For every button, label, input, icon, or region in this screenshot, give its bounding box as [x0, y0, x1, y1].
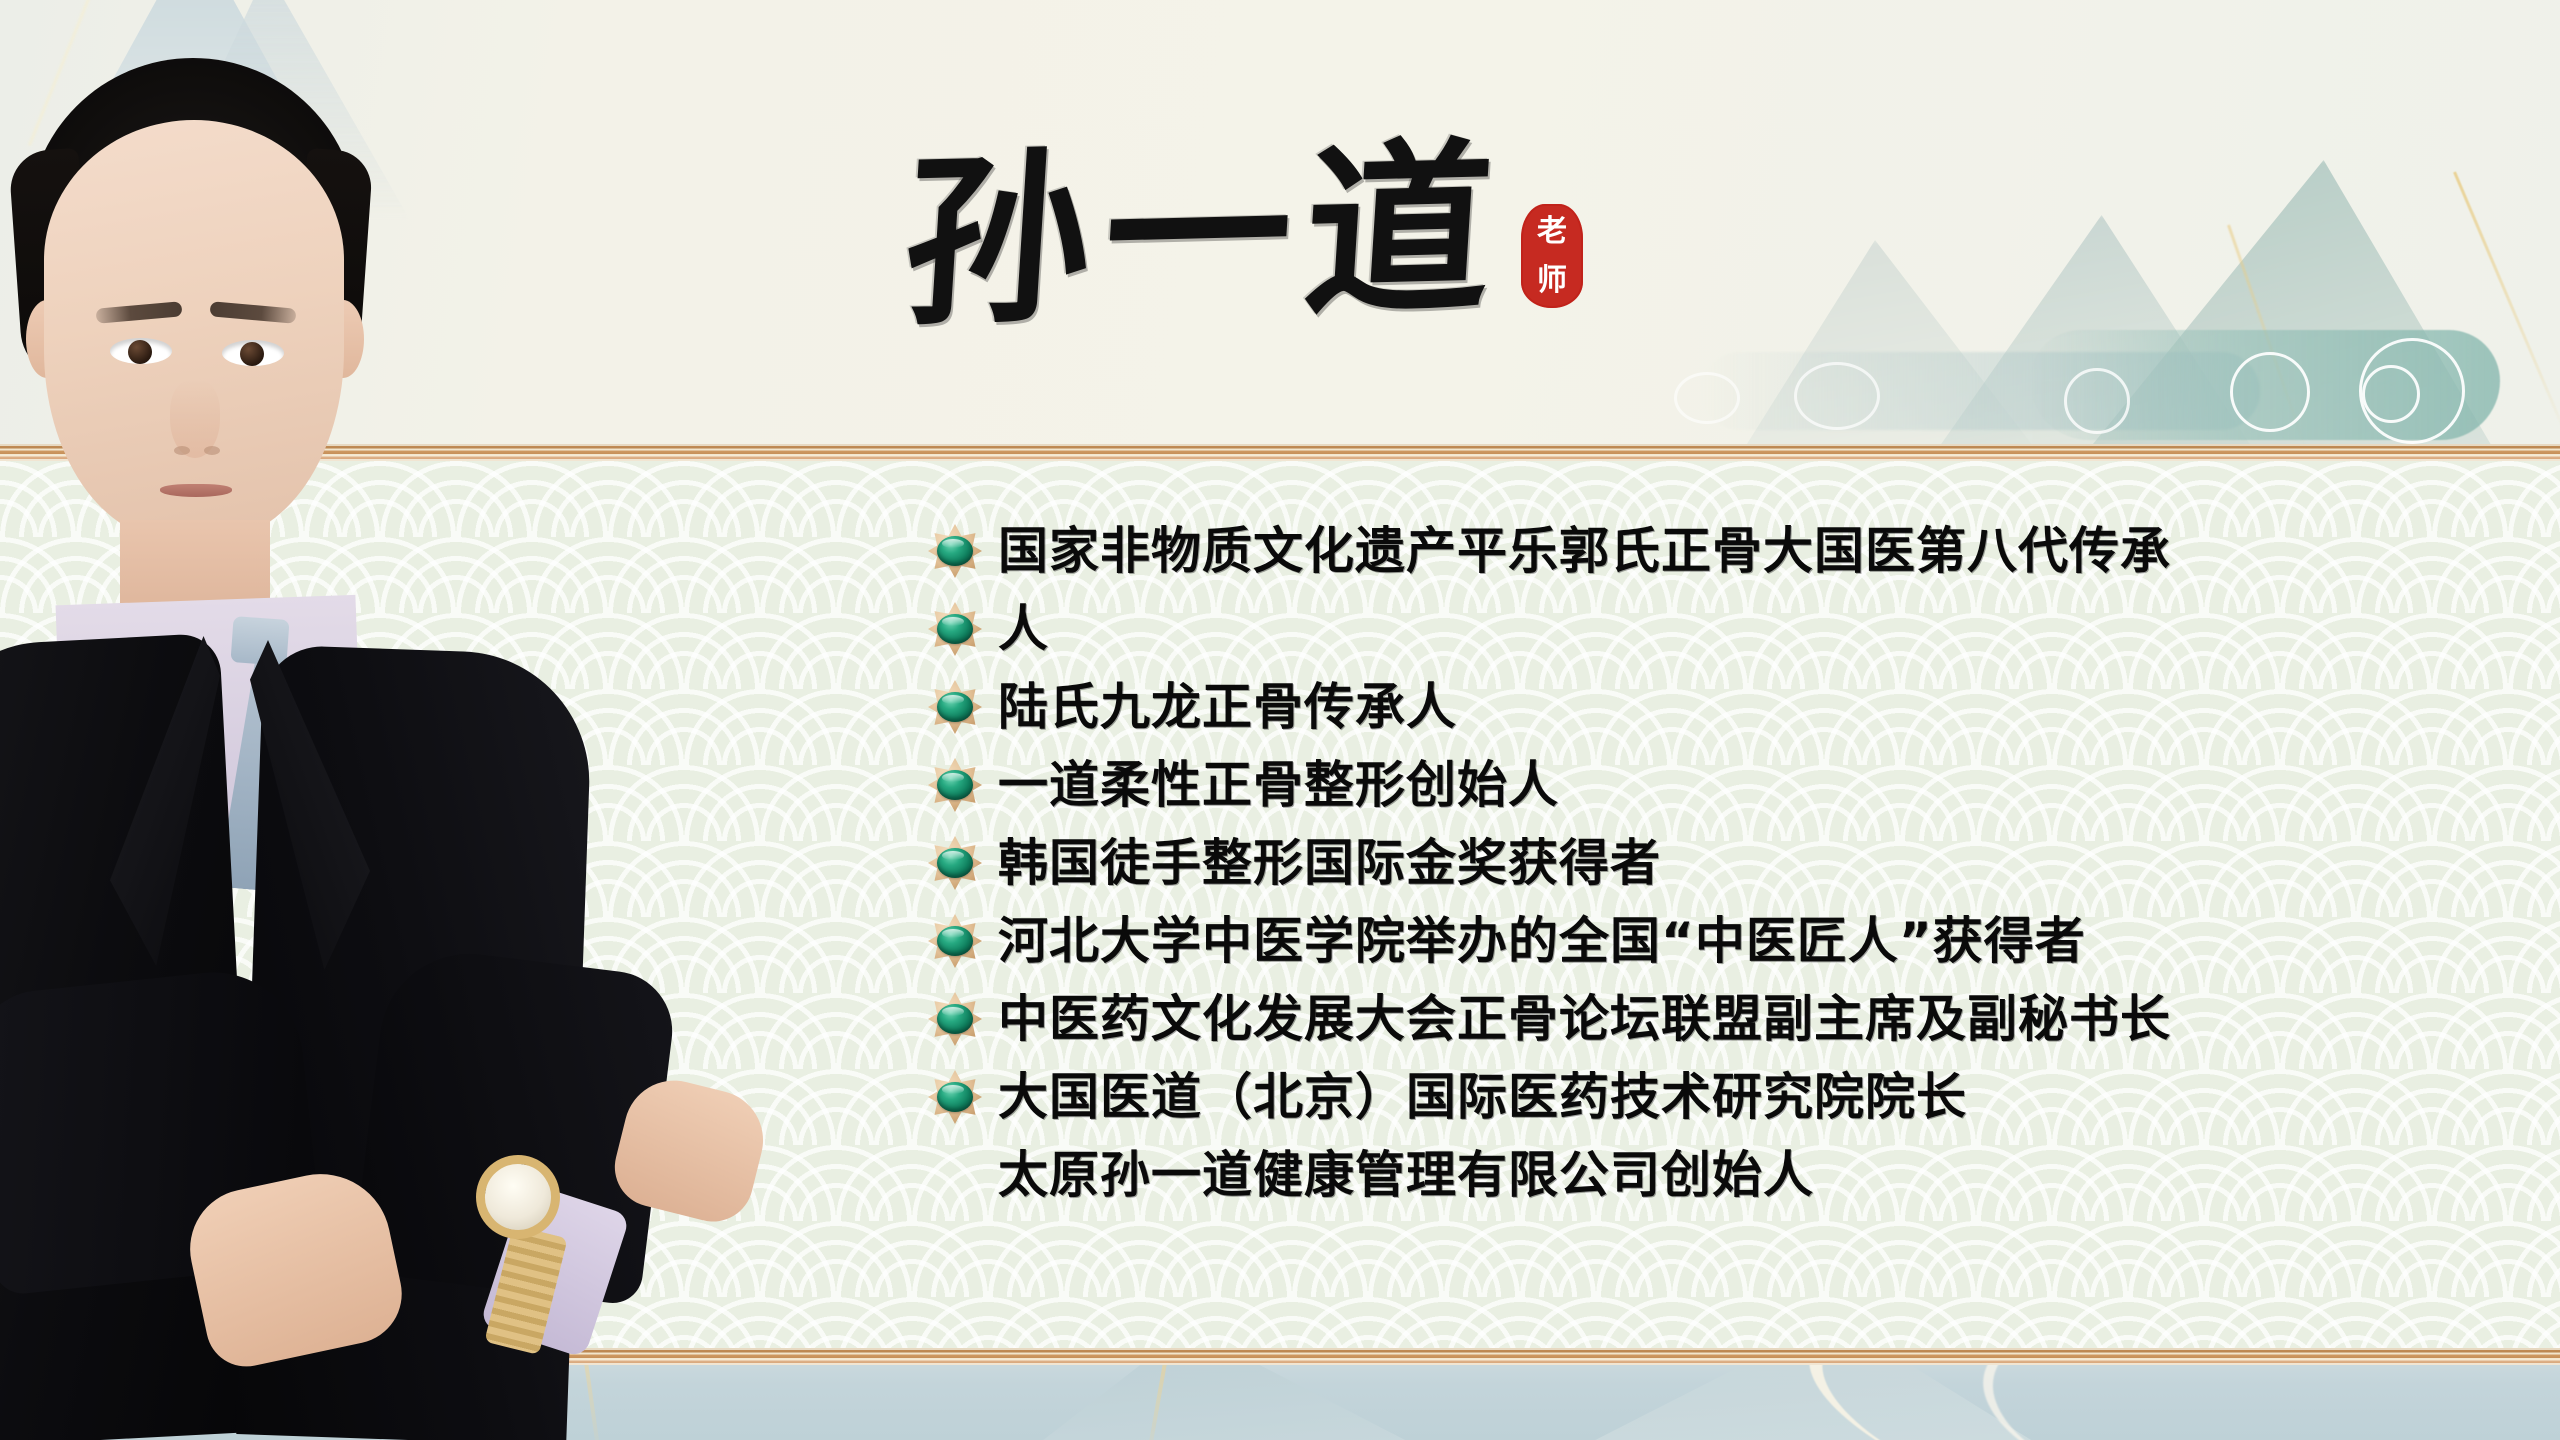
jade-gem-bullet-icon [928, 992, 982, 1046]
credential-text: 河北大学中医学院举办的全国“中医匠人”获得者 [998, 916, 2086, 966]
list-item: 中医药文化发展大会正骨论坛联盟副主席及副秘书长 [928, 980, 2528, 1058]
credential-text: 国家非物质文化遗产平乐郭氏正骨大国医第八代传承 [998, 526, 2171, 576]
teacher-seal-stamp: 老 师 [1521, 204, 1583, 308]
list-item: 人 [928, 590, 2528, 668]
jade-gem-bullet-icon [928, 524, 982, 578]
jade-gem-bullet-icon [928, 680, 982, 734]
ruyi-cloud-swirl-mid-icon [2230, 352, 2310, 432]
list-item: 大国医道（北京）国际医药技术研究院院长 [928, 1058, 2528, 1136]
list-item: 韩国徒手整形国际金奖获得者 [928, 824, 2528, 902]
credentials-list: 国家非物质文化遗产平乐郭氏正骨大国医第八代传承 人 陆氏九龙正骨传承人 一道柔性… [928, 512, 2528, 1214]
credential-text: 韩国徒手整形国际金奖获得者 [998, 838, 1661, 888]
jade-gem-bullet-icon [928, 1070, 982, 1124]
ruyi-cloud-swirl-far-icon [1794, 362, 1880, 430]
jade-gem-bullet-icon [928, 602, 982, 656]
title-block: 孙一道 老 师 [905, 118, 1605, 378]
credential-text: 人 [998, 604, 1049, 654]
poster-canvas: 孙一道 老 师 国家非物质文化遗产平乐郭氏正骨大国医第八代传承 [0, 0, 2560, 1440]
credential-text: 中医药文化发展大会正骨论坛联盟副主席及副秘书长 [998, 994, 2171, 1044]
jade-gem-bullet-icon [928, 758, 982, 812]
credential-text: 太原孙一道健康管理有限公司创始人 [998, 1150, 1814, 1200]
ruyi-cloud-swirl-farthest-icon [1674, 372, 1740, 424]
jade-gem-bullet-icon [928, 836, 982, 890]
list-item: 河北大学中医学院举办的全国“中医匠人”获得者 [928, 902, 2528, 980]
gold-divider-top [0, 444, 2560, 461]
seal-char-bottom: 师 [1521, 256, 1583, 305]
ruyi-cloud-swirl-left-icon [2064, 368, 2130, 434]
seal-char-top: 老 [1521, 207, 1583, 256]
credential-text: 一道柔性正骨整形创始人 [998, 760, 1559, 810]
page-title: 孙一道 [897, 109, 1613, 358]
jade-gem-bullet-icon [928, 914, 982, 968]
list-item: 太原孙一道健康管理有限公司创始人 [928, 1136, 2528, 1214]
gold-divider-bottom [0, 1348, 2560, 1365]
header-band: 孙一道 老 师 [0, 0, 2560, 452]
list-item: 国家非物质文化遗产平乐郭氏正骨大国医第八代传承 [928, 512, 2528, 590]
list-item: 陆氏九龙正骨传承人 [928, 668, 2528, 746]
credential-text: 陆氏九龙正骨传承人 [998, 682, 1457, 732]
ruyi-cloud-swirl-small-icon [2362, 365, 2420, 423]
list-item: 一道柔性正骨整形创始人 [928, 746, 2528, 824]
credential-text: 大国医道（北京）国际医药技术研究院院长 [998, 1072, 1967, 1122]
